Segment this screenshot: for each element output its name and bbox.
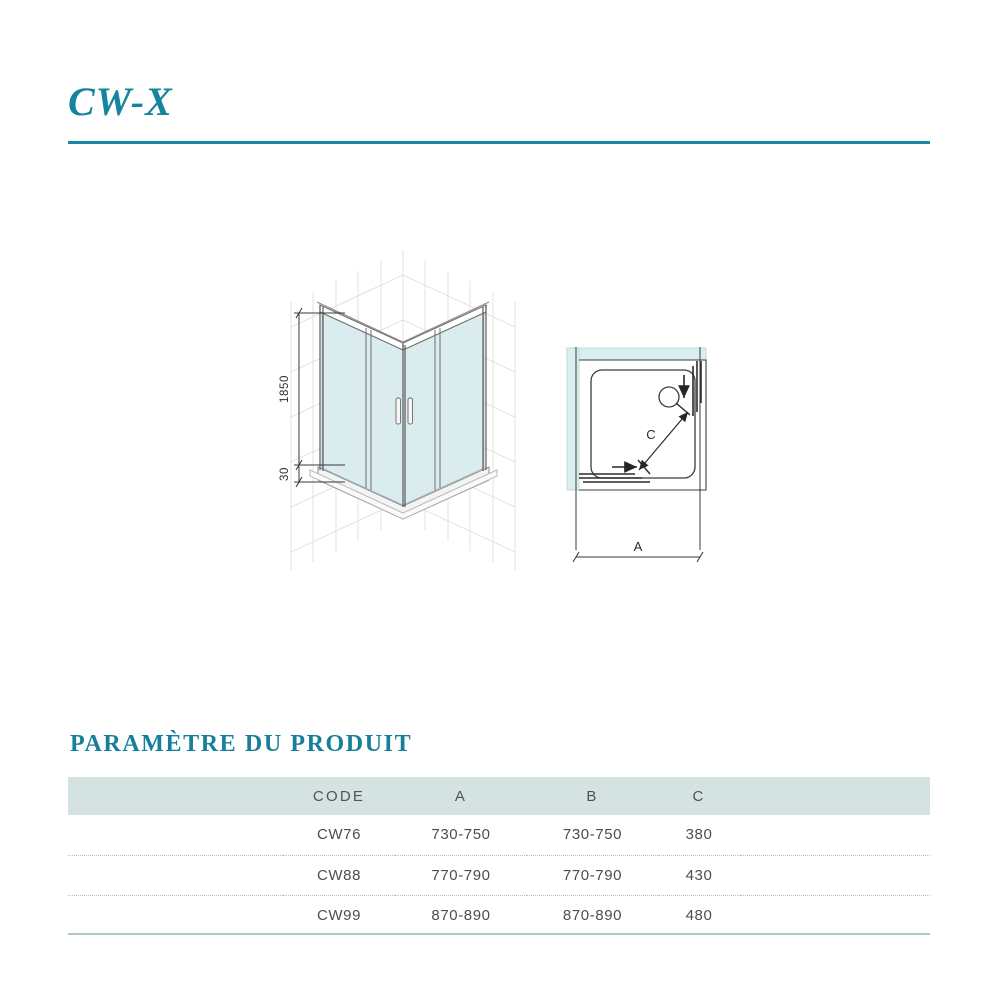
product-drawings: 1850 30 [0,220,1000,570]
row-spacer [68,815,283,855]
table-row: CW88 770-790 770-790 430 [68,855,930,895]
row-tail [740,855,930,895]
title-divider [68,141,930,144]
dimension-label-a: A [634,539,643,554]
table-header-c: C [658,777,740,815]
table-header-b: B [527,777,658,815]
table-bottom-divider [68,933,930,935]
cell-a: 770-790 [395,855,527,895]
row-spacer [68,855,283,895]
plan-drawing: C A B [537,347,706,570]
cell-code: CW76 [283,815,395,855]
isometric-drawing: 1850 30 [279,250,516,570]
plan-drain-icon [659,387,679,407]
cell-c: 480 [658,895,740,935]
cell-b: 770-790 [527,855,658,895]
cell-a: 870-890 [395,895,527,935]
cell-c: 380 [658,815,740,855]
table-header-row: CODE A B C [68,777,930,815]
cell-b: 870-890 [527,895,658,935]
table-row: CW99 870-890 870-890 480 [68,895,930,935]
dimension-label-1850: 1850 [279,375,291,403]
row-tail [740,895,930,935]
table-header-tail [740,777,930,815]
cell-c: 430 [658,855,740,895]
table-header-a: A [395,777,527,815]
table-row: CW76 730-750 730-750 380 [68,815,930,855]
table-header-spacer [68,777,283,815]
row-tail [740,815,930,855]
dimension-label-30: 30 [279,467,291,481]
page-title: CW-X [68,82,173,122]
cell-a: 730-750 [395,815,527,855]
cell-code: CW99 [283,895,395,935]
cell-b: 730-750 [527,815,658,855]
door-handle-right [408,398,413,424]
door-handle-left [396,398,401,424]
product-parameter-table: CODE A B C CW76 730-750 730-750 380 CW88… [68,777,930,935]
plan-shower-tray [591,370,695,478]
dimension-label-c: C [646,427,655,442]
cell-code: CW88 [283,855,395,895]
table-header-code: CODE [283,777,395,815]
row-spacer [68,895,283,935]
section-heading: PARAMÈTRE DU PRODUIT [70,731,412,758]
